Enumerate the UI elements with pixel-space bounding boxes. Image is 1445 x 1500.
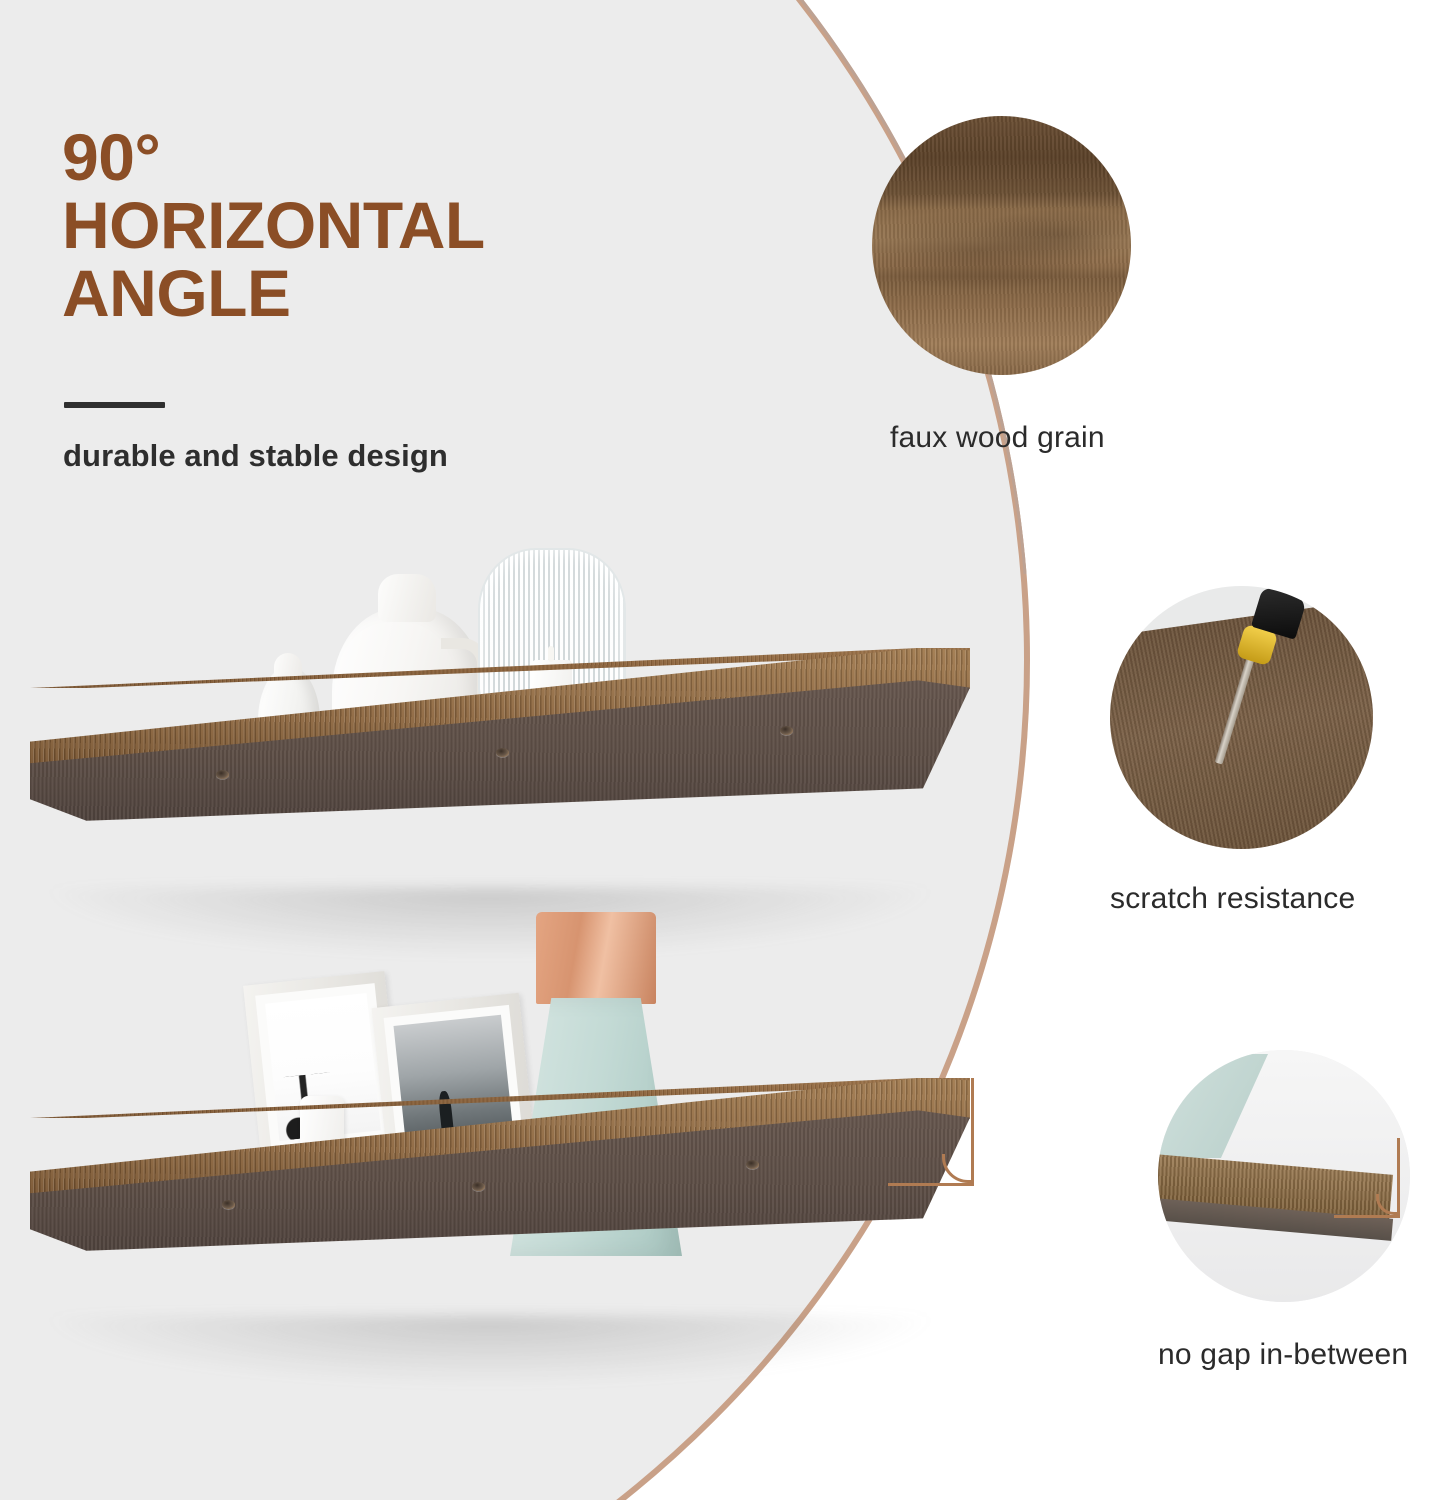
no-gap-image (1158, 1050, 1410, 1302)
upper-shelf-screw-left (216, 770, 229, 779)
upper-shelf-shadow (40, 888, 940, 958)
lower-shelf-screw-right (746, 1160, 759, 1169)
scratch-resistance-caption: scratch resistance (1110, 882, 1355, 916)
angle-bracket-marker-nogap (1334, 1138, 1400, 1218)
no-gap-caption: no gap in-between (1158, 1338, 1408, 1372)
feature-faux-wood-grain: faux wood grain (872, 116, 1172, 476)
headline-degrees: 90° (62, 124, 682, 192)
bracket-horizontal-line (888, 1183, 974, 1186)
lower-shelf-plank (30, 1078, 970, 1368)
headline-subtitle: durable and stable design (63, 438, 448, 474)
upper-shelf-screw-mid (496, 748, 509, 757)
lower-shelf-screw-mid (472, 1182, 485, 1191)
bracket-vertical-line-nogap (1397, 1138, 1400, 1218)
headline-block: 90° HORIZONTAL ANGLE (62, 124, 682, 328)
faux-wood-grain-caption: faux wood grain (890, 421, 1105, 455)
headline-divider (64, 402, 165, 408)
upper-shelf-screw-right (780, 726, 793, 735)
faux-wood-grain-image (872, 116, 1131, 375)
big-vase-copper-top (536, 912, 656, 1004)
feature-no-gap: no gap in-between (1158, 1050, 1445, 1400)
bracket-right-angle-arc (942, 1154, 971, 1183)
headline-line-horizontal: HORIZONTAL (62, 192, 682, 260)
upper-shelf-plank (30, 648, 970, 938)
main-shelf-scene (0, 500, 1010, 1310)
scratch-resistance-image (1110, 586, 1373, 849)
scratch-wood-surface (1110, 595, 1373, 849)
lower-shelf-shadow (40, 1316, 940, 1386)
lower-shelf-screw-left (222, 1200, 235, 1209)
bracket-right-angle-arc-nogap (1376, 1194, 1397, 1215)
angle-bracket-marker-main (888, 1078, 974, 1186)
bracket-horizontal-line-nogap (1334, 1215, 1400, 1218)
headline-line-angle: ANGLE (62, 260, 682, 328)
feature-scratch-resistance: scratch resistance (1110, 586, 1440, 936)
bracket-vertical-line (971, 1078, 974, 1186)
product-feature-banner: 90° HORIZONTAL ANGLE durable and stable … (0, 0, 1445, 1500)
